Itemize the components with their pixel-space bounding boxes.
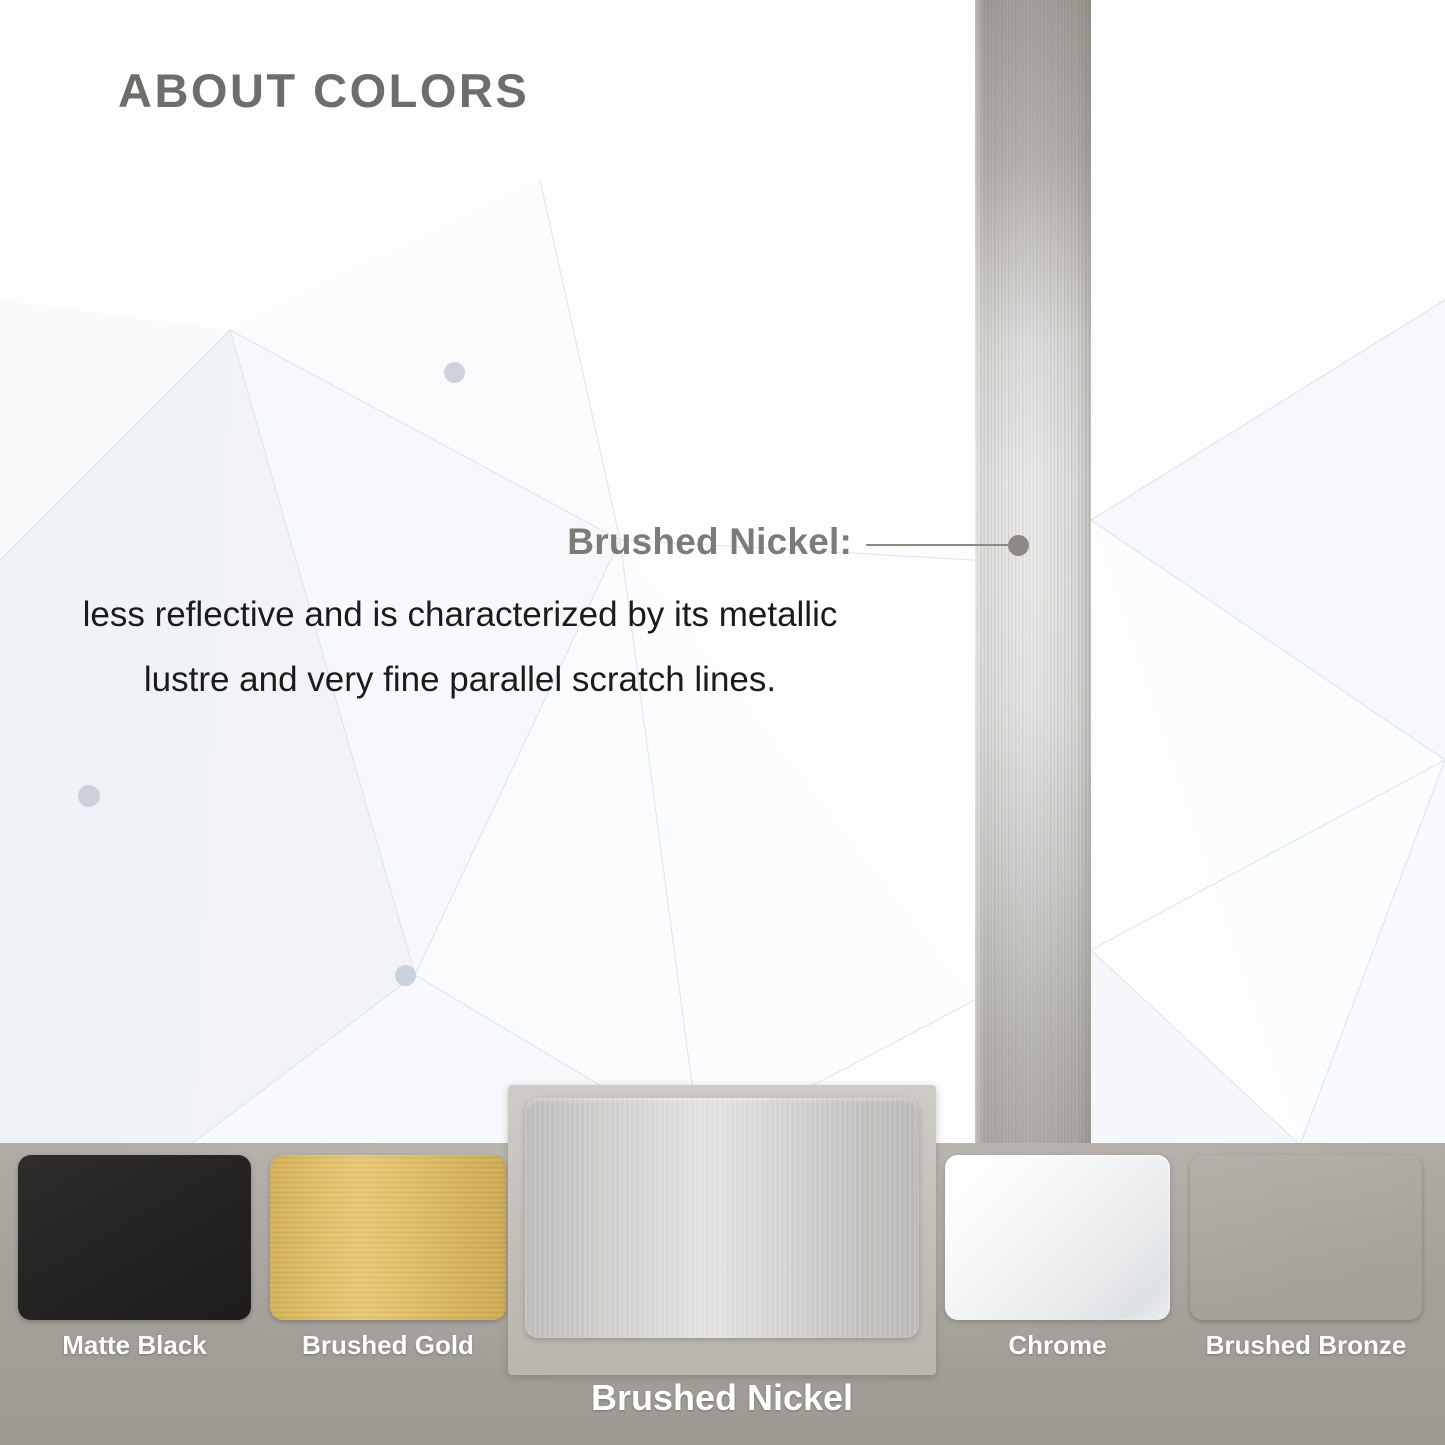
callout-leader-line (866, 544, 1011, 546)
callout-description: less reflective and is characterized by … (60, 582, 860, 712)
swatch-brushed-gold[interactable] (270, 1155, 506, 1320)
swatch-matte-black[interactable] (18, 1155, 251, 1320)
swatch-brushed-bronze[interactable] (1190, 1155, 1422, 1320)
brushed-nickel-hero-bar (975, 0, 1091, 1143)
callout-endpoint-dot (1008, 535, 1029, 556)
background-dot (395, 965, 416, 986)
infographic-canvas: ABOUT COLORS Brushed Nickel: less reflec… (0, 0, 1445, 1445)
swatch-label-chrome: Chrome (945, 1330, 1170, 1361)
swatch-chrome[interactable] (945, 1155, 1170, 1320)
page-title: ABOUT COLORS (118, 63, 529, 118)
swatch-label-matte-black: Matte Black (18, 1330, 251, 1361)
swatch-label-brushed-nickel: Brushed Nickel (508, 1377, 936, 1419)
callout-title: Brushed Nickel: (0, 521, 852, 563)
background-dot (444, 362, 465, 383)
swatch-label-brushed-bronze: Brushed Bronze (1190, 1330, 1422, 1361)
swatch-label-brushed-gold: Brushed Gold (270, 1330, 506, 1361)
background-dot (78, 785, 100, 807)
swatch-brushed-nickel[interactable] (525, 1098, 919, 1338)
